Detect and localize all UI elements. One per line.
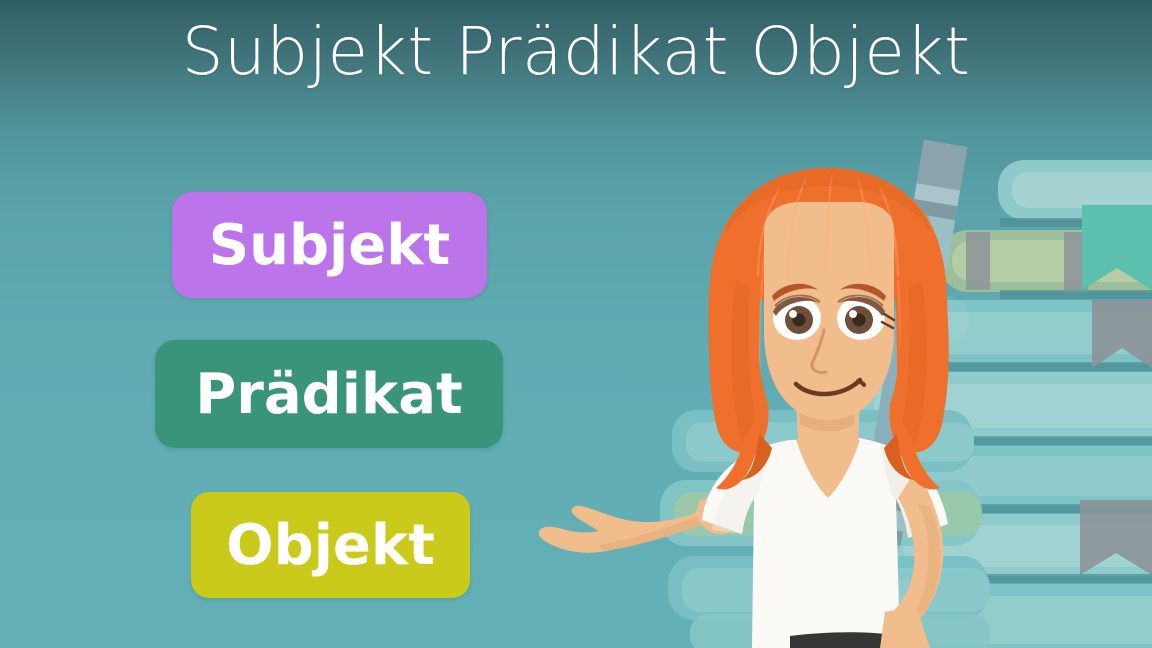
background-scene [0, 0, 1152, 648]
label-chip-subjekt[interactable]: Subjekt [172, 192, 487, 298]
slide-canvas: Subjekt Prädikat Objekt Subjekt Prädikat… [0, 0, 1152, 648]
label-chip-praedikat[interactable]: Prädikat [155, 340, 503, 448]
page-title: Subjekt Prädikat Objekt [0, 16, 1152, 89]
label-chip-objekt[interactable]: Objekt [191, 492, 470, 598]
